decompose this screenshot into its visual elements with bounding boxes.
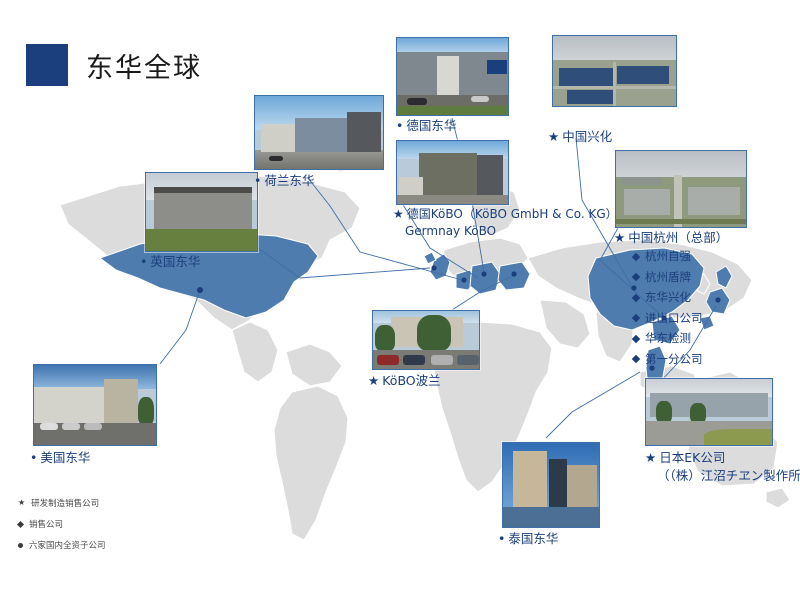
- photo-netherlands[interactable]: [254, 95, 384, 170]
- list-item[interactable]: 华东检测: [633, 333, 703, 345]
- photo-china-xinghua[interactable]: [552, 35, 677, 107]
- photo-tree: [375, 325, 395, 351]
- photo-usa[interactable]: [33, 364, 157, 446]
- list-item[interactable]: 东华兴化: [633, 292, 703, 304]
- marker-star: ★: [614, 229, 625, 247]
- diamond-icon: [632, 253, 640, 261]
- list-item[interactable]: 杭州盾牌: [633, 272, 703, 284]
- photo-roof: [617, 66, 669, 84]
- star-icon: ★: [18, 499, 25, 507]
- label-usa: •美国东华: [30, 449, 90, 467]
- slide-canvas: 东华全球: [0, 0, 800, 604]
- marker-dot: •: [396, 117, 403, 135]
- photo-tree: [417, 315, 451, 351]
- circle-icon: [18, 543, 23, 548]
- page-title: 东华全球: [86, 46, 202, 85]
- label-germany-kobo-line2: Germnay KöBO: [393, 223, 618, 240]
- photo-germany-donghua[interactable]: [396, 37, 509, 116]
- photo-china-hangzhou[interactable]: [615, 150, 747, 228]
- photo-building: [347, 112, 381, 152]
- label-china-xinghua: ★中国兴化: [548, 128, 612, 146]
- photo-road: [397, 195, 508, 204]
- photo-roof: [559, 68, 613, 88]
- photo-roof: [688, 187, 740, 215]
- photo-car: [62, 423, 80, 430]
- photo-car: [407, 98, 427, 105]
- label-poland: ★KöBO波兰: [368, 372, 441, 390]
- list-item[interactable]: 杭州自强: [633, 251, 703, 263]
- legend-item-sales: 销售公司: [18, 518, 106, 530]
- photo-building: [154, 187, 252, 193]
- brand-mark-square: [26, 44, 68, 86]
- list-item[interactable]: 第一分公司: [633, 354, 703, 366]
- photo-tree: [656, 401, 672, 423]
- marker-dot: •: [140, 253, 147, 271]
- diamond-icon: [17, 520, 24, 527]
- photo-germany-kobo[interactable]: [396, 140, 509, 205]
- legend-item-subsidiaries: 六家国内全资子公司: [18, 539, 106, 551]
- diamond-icon: [632, 273, 640, 281]
- diamond-icon: [632, 294, 640, 302]
- label-china-hangzhou: ★中国杭州（总部）: [614, 229, 728, 247]
- photo-building: [261, 124, 295, 152]
- photo-tree: [138, 397, 154, 425]
- photo-japan-ek[interactable]: [645, 378, 773, 446]
- photo-uk[interactable]: [145, 172, 258, 252]
- diamond-icon: [632, 314, 640, 322]
- photo-building: [513, 451, 547, 507]
- label-uk: •英国东华: [140, 253, 200, 271]
- photo-car: [431, 355, 453, 365]
- label-germany-kobo: ★德国KöBO（KöBO GmbH & Co. KG） Germnay KöBO: [393, 206, 618, 241]
- diamond-icon: [632, 335, 640, 343]
- photo-car: [269, 156, 283, 161]
- list-item[interactable]: 进出口公司: [633, 313, 703, 325]
- photo-roof: [624, 189, 670, 215]
- photo-sky: [616, 151, 746, 177]
- photo-building: [567, 465, 597, 507]
- photo-car: [471, 96, 489, 102]
- hangzhou-subsidiary-list: 杭州自强 杭州盾牌 东华兴化 进出口公司 华东检测 第一分公司: [633, 251, 703, 374]
- photo-building: [295, 118, 347, 152]
- label-thailand: •泰国东华: [498, 530, 558, 548]
- photo-building: [154, 189, 252, 231]
- photo-building: [419, 153, 477, 197]
- legend-label: 研发制造销售公司: [31, 497, 99, 509]
- diamond-icon: [632, 355, 640, 363]
- photo-car: [403, 355, 425, 365]
- photo-grass: [146, 229, 257, 251]
- label-germany-donghua: •德国东华: [396, 117, 456, 135]
- photo-car: [40, 423, 58, 430]
- photo-building: [104, 379, 138, 423]
- legend-item-rd: ★ 研发制造销售公司: [18, 497, 106, 509]
- photo-building: [34, 387, 104, 423]
- photo-building: [549, 459, 567, 507]
- marker-dot: •: [254, 172, 261, 190]
- photo-road: [503, 507, 599, 527]
- legend-label: 销售公司: [29, 518, 63, 530]
- marker-dot: •: [30, 449, 37, 467]
- photo-building: [437, 56, 459, 96]
- marker-dot: •: [498, 530, 505, 548]
- photo-tree: [690, 403, 706, 423]
- photo-car: [377, 355, 399, 365]
- photo-thailand[interactable]: [502, 442, 600, 528]
- legend: ★ 研发制造销售公司 销售公司 六家国内全资子公司: [18, 497, 106, 560]
- page-header: 东华全球: [26, 44, 202, 86]
- photo-grass: [704, 429, 772, 445]
- photo-car: [84, 423, 102, 430]
- label-japan-ek: ★日本EK公司 （（株）江沼チヱン製作所）: [645, 449, 800, 485]
- marker-star: ★: [548, 128, 559, 146]
- photo-car: [457, 355, 479, 365]
- marker-star: ★: [393, 206, 404, 223]
- label-netherlands: •荷兰东华: [254, 172, 314, 190]
- photo-building: [487, 60, 507, 74]
- marker-star: ★: [368, 372, 379, 390]
- photo-road: [613, 62, 616, 107]
- label-japan-ek-line2: （（株）江沼チヱン製作所）: [645, 467, 800, 485]
- photo-poland[interactable]: [372, 310, 480, 370]
- photo-road: [616, 219, 747, 224]
- photo-building: [477, 155, 503, 197]
- legend-label: 六家国内全资子公司: [29, 539, 106, 551]
- photo-roof: [622, 177, 662, 185]
- photo-sky: [553, 36, 676, 60]
- photo-grass: [397, 106, 508, 115]
- marker-star: ★: [645, 449, 656, 467]
- photo-roof: [567, 90, 613, 104]
